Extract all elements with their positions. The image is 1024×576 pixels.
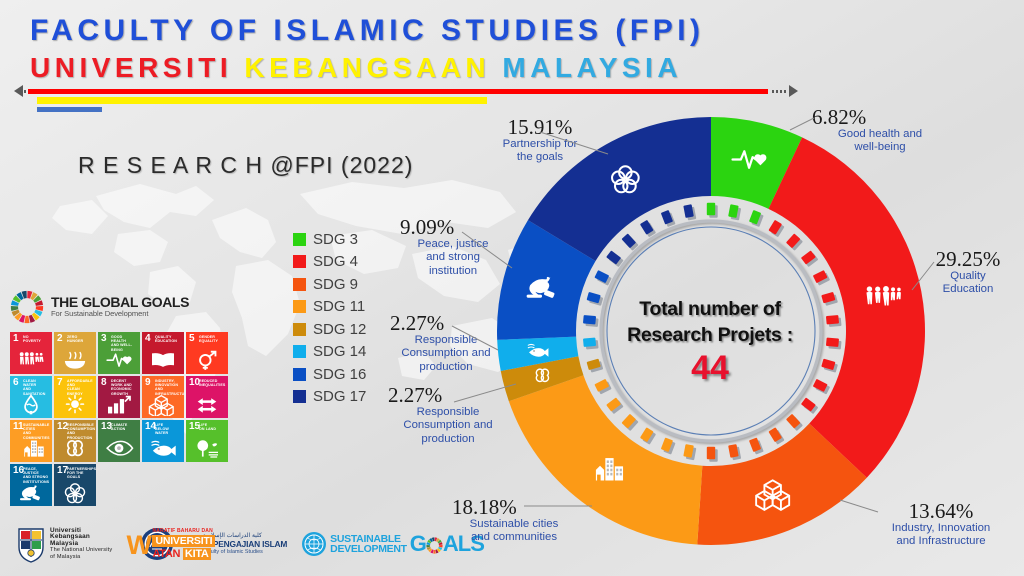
page-title: R E S E A R C H @FPI (2022) (78, 152, 413, 179)
dove-gavel-icon (10, 482, 52, 504)
legend-label: SDG 9 (313, 276, 358, 293)
ukm-logo: Universiti Kebangsaan Malaysia The Natio… (16, 524, 112, 564)
sdg-tile-number: 8 (101, 378, 107, 387)
watan-universiti: UNIVERSITI (152, 535, 215, 547)
fish-icon (142, 438, 184, 460)
right-dots-icon (772, 90, 786, 93)
equal-arrows-icon (186, 394, 228, 416)
callout-responsible-consumption-2: 2.27% ResponsibleConsumption andproducti… (388, 384, 508, 446)
legend-swatch (293, 368, 306, 381)
un-emblem-icon (301, 531, 327, 557)
legend-label: SDG 16 (313, 366, 366, 383)
sdg-tile-number: 1 (13, 334, 19, 343)
partnership-rings-icon (54, 482, 96, 504)
legend-item[interactable]: SDG 16 (293, 363, 366, 386)
sdg-tile-label: NOPOVERTY (23, 335, 50, 343)
sdg-tile-label: LIFEON LAND (199, 423, 226, 431)
callout-description: Industry, Innovationand Infrastructure (862, 522, 1020, 549)
ring-dash (707, 203, 715, 215)
sdg-tile-label: LIFEBELOW WATER (155, 423, 182, 436)
legend-swatch (293, 233, 306, 246)
sdg-tile-number: 4 (145, 334, 151, 343)
eye-globe-icon (98, 438, 140, 460)
donut-chart (478, 98, 944, 564)
legend-swatch (293, 323, 306, 336)
sdg-tile-16[interactable]: 16PEACE, JUSTICEAND STRONG INSTITUTIONS (10, 464, 52, 506)
sdg-tile-13[interactable]: 13CLIMATEACTION (98, 420, 140, 462)
watan-atan: ATAN (152, 548, 180, 560)
sun-icon (54, 394, 96, 416)
callout-description: Good health andwell-being (812, 128, 948, 155)
callout-description: QualityEducation (916, 270, 1020, 297)
callout-sustainable-cities: 18.18% Sustainable citiesand communities (452, 496, 576, 545)
sdg-tile-6[interactable]: 6CLEAN WATERAND SANITATION (10, 376, 52, 418)
watan-tagline: NARATIF BAHARU DAN (152, 528, 212, 534)
cubes-icon (142, 394, 184, 416)
dashed-color-ring (583, 203, 842, 462)
donut-slice-sdg-4[interactable] (768, 137, 925, 477)
ukm-name: Universiti Kebangsaan Malaysia The Natio… (50, 528, 112, 561)
callout-percent: 15.91% (474, 116, 606, 138)
legend-label: SDG 11 (313, 298, 365, 315)
sdg-tile-number: 5 (189, 334, 195, 343)
watan-bottom: ATAN KITA (152, 548, 210, 560)
callout-percent: 18.18% (452, 496, 576, 518)
callout-description: ResponsibleConsumption andproduction (390, 334, 502, 374)
callout-industry: 13.64% Industry, Innovationand Infrastru… (862, 500, 1020, 549)
ring-dash (583, 315, 596, 325)
callout-percent: 2.27% (390, 312, 502, 334)
legend-label: SDG 4 (313, 253, 358, 270)
donut-slices (497, 117, 925, 545)
divider-bar-yellow (37, 97, 487, 104)
inner-ring-outer (601, 221, 821, 441)
sdg-tile-number: 9 (145, 378, 151, 387)
callout-description: ResponsibleConsumption andproduction (388, 406, 508, 446)
callout-partnership: 15.91% Partnership forthe goals (474, 116, 606, 165)
sdg-tile-1[interactable]: 1NOPOVERTY (10, 332, 52, 374)
right-arrow-icon (789, 85, 798, 97)
sdg-tile-3[interactable]: 3GOOD HEALTHAND WELL-BEING (98, 332, 140, 374)
legend-item[interactable]: SDG 9 (293, 273, 366, 296)
callout-percent: 13.64% (862, 500, 1020, 522)
callout-description: Partnership forthe goals (474, 138, 606, 165)
callout-percent: 2.27% (388, 384, 508, 406)
legend-item[interactable]: SDG 4 (293, 251, 366, 274)
legend-item[interactable]: SDG 3 (293, 228, 366, 251)
partner-logos: Universiti Kebangsaan Malaysia The Natio… (16, 520, 476, 568)
legend-item[interactable]: SDG 17 (293, 386, 366, 409)
divider-bar-blue (37, 107, 102, 112)
callout-percent: 29.25% (916, 248, 1020, 270)
global-goals-text: THE GLOBAL GOALS For Sustainable Develop… (51, 296, 189, 318)
ring-dash (587, 292, 601, 303)
water-drop-icon (10, 394, 52, 416)
callout-percent: 6.82% (812, 106, 948, 128)
legend-swatch (293, 345, 306, 358)
left-arrow-icon (14, 85, 23, 97)
university-word-3: MALAYSIA (502, 52, 682, 83)
city-buildings-icon (10, 438, 52, 460)
legend-item[interactable]: SDG 11 (293, 296, 366, 319)
sdg-tile-label: GENDEREQUALITY (199, 335, 226, 343)
sdg-tile-label: CLIMATEACTION (111, 423, 138, 431)
ring-dash (707, 447, 715, 459)
divider-bar-red (28, 89, 768, 94)
sdg-tile-number: 7 (57, 378, 63, 387)
university-word-2: KEBANGSAAN (244, 52, 490, 83)
watan-kita: KITA (183, 548, 211, 560)
infographic-slide: FACULTY OF ISLAMIC STUDIES (FPI) UNIVERS… (0, 0, 1024, 576)
sdg-tile-10[interactable]: 10REDUCEDINEQUALITIES (186, 376, 228, 418)
chart-arrow-icon (98, 394, 140, 416)
sdg-goals-g: G (410, 533, 426, 555)
sdg-word-development: DEVELOPMENT (330, 544, 407, 555)
slide-header: FACULTY OF ISLAMIC STUDIES (FPI) UNIVERS… (0, 0, 1024, 108)
watan-w-letter: W (126, 532, 151, 559)
callout-description: Peace, justiceand stronginstitution (400, 238, 506, 278)
chart-legend: SDG 3 SDG 4 SDG 9 SDG 11 SDG 12 SDG 14 S… (293, 228, 366, 408)
legend-label: SDG 3 (313, 231, 358, 248)
book-icon (142, 350, 184, 372)
callout-good-health: 6.82% Good health andwell-being (812, 106, 948, 155)
legend-item[interactable]: SDG 14 (293, 341, 366, 364)
global-goals-block: THE GLOBAL GOALS For Sustainable Develop… (10, 288, 228, 506)
legend-swatch (293, 255, 306, 268)
ring-dash (683, 204, 694, 218)
sdg-tile-2[interactable]: 2ZEROHUNGER (54, 332, 96, 374)
callout-description: Sustainable citiesand communities (452, 518, 576, 545)
sdg-tile-label: ZEROHUNGER (67, 335, 94, 343)
ring-dash (826, 338, 839, 348)
sdg-tile-number: 6 (13, 378, 19, 387)
sdg-words: SUSTAINABLE DEVELOPMENT (330, 534, 407, 555)
sdg-tile-9[interactable]: 9INDUSTRY, INNOVATIONAND INFRASTRUCTURE (142, 376, 184, 418)
sdg-tile-label: PARTNERSHIPSFOR THE GOALS (67, 467, 94, 480)
heartbeat-icon (98, 350, 140, 372)
sdg-tile-label: QUALITYEDUCATION (155, 335, 182, 343)
tree-bird-icon (186, 438, 228, 460)
callout-quality-education: 29.25% QualityEducation (916, 248, 1020, 297)
sdg-tile-8[interactable]: 8DECENT WORK ANDECONOMIC GROWTH (98, 376, 140, 418)
ring-dash (821, 359, 835, 370)
legend-swatch (293, 390, 306, 403)
callout-responsible-consumption-1: 2.27% ResponsibleConsumption andproducti… (390, 312, 502, 374)
ring-dash (826, 315, 839, 325)
ukm-line4: The National University (50, 547, 112, 554)
callout-percent: 9.09% (400, 216, 506, 238)
sdg-tile-4[interactable]: 4QUALITYEDUCATION (142, 332, 184, 374)
callout-peace-justice: 9.09% Peace, justiceand stronginstitutio… (400, 216, 506, 278)
bowl-icon (54, 350, 96, 372)
sdg-tile-12[interactable]: 12RESPONSIBLE CONSUMPTIONAND PRODUCTION (54, 420, 96, 462)
legend-swatch (293, 300, 306, 313)
sdg-tile-14[interactable]: 14LIFEBELOW WATER (142, 420, 184, 462)
faculty-title: FACULTY OF ISLAMIC STUDIES (FPI) (30, 14, 705, 48)
sdg-tile-15[interactable]: 15LIFEON LAND (186, 420, 228, 462)
sdg-tile-11[interactable]: 11SUSTAINABLE CITIESAND COMMUNITIES (10, 420, 52, 462)
university-title: UNIVERSITI KEBANGSAAN MALAYSIA (30, 52, 682, 84)
sdg-tile-number: 11 (13, 422, 24, 431)
legend-swatch (293, 278, 306, 291)
sdg-tile-number: 2 (57, 334, 63, 343)
legend-label: SDG 14 (313, 343, 366, 360)
university-word-1: UNIVERSITI (30, 52, 232, 83)
ring-dash (583, 338, 596, 348)
gender-icon (186, 350, 228, 372)
ukm-line3: Malaysia (50, 540, 78, 547)
legend-label: SDG 17 (313, 388, 366, 405)
sdg-color-wheel-small-icon (426, 536, 443, 553)
sdg-color-wheel-icon (10, 290, 44, 324)
legend-item[interactable]: SDG 12 (293, 318, 366, 341)
inner-ring-inner (607, 227, 815, 435)
sdg-tile-7[interactable]: 7AFFORDABLE ANDCLEAN ENERGY (54, 376, 96, 418)
sdg-tile-5[interactable]: 5GENDEREQUALITY (186, 332, 228, 374)
legend-label: SDG 12 (313, 321, 366, 338)
infinity-icon (54, 438, 96, 460)
ukm-line5: of Malaysia (50, 554, 112, 561)
global-goals-subtitle: For Sustainable Development (51, 309, 189, 318)
global-goals-title: THE GLOBAL GOALS (51, 296, 189, 309)
sdg-tile-number: 3 (101, 334, 107, 343)
sdg-tile-label: REDUCEDINEQUALITIES (199, 379, 226, 387)
sdg-tiles-grid: 1NOPOVERTY2ZEROHUNGER3GOOD HEALTHAND WEL… (10, 332, 228, 506)
global-goals-header: THE GLOBAL GOALS For Sustainable Develop… (10, 288, 228, 326)
ukm-crest-icon (16, 525, 46, 563)
ring-dash (728, 444, 739, 458)
sdg-tile-17[interactable]: 17PARTNERSHIPSFOR THE GOALS (54, 464, 96, 506)
people-icon (10, 350, 52, 372)
